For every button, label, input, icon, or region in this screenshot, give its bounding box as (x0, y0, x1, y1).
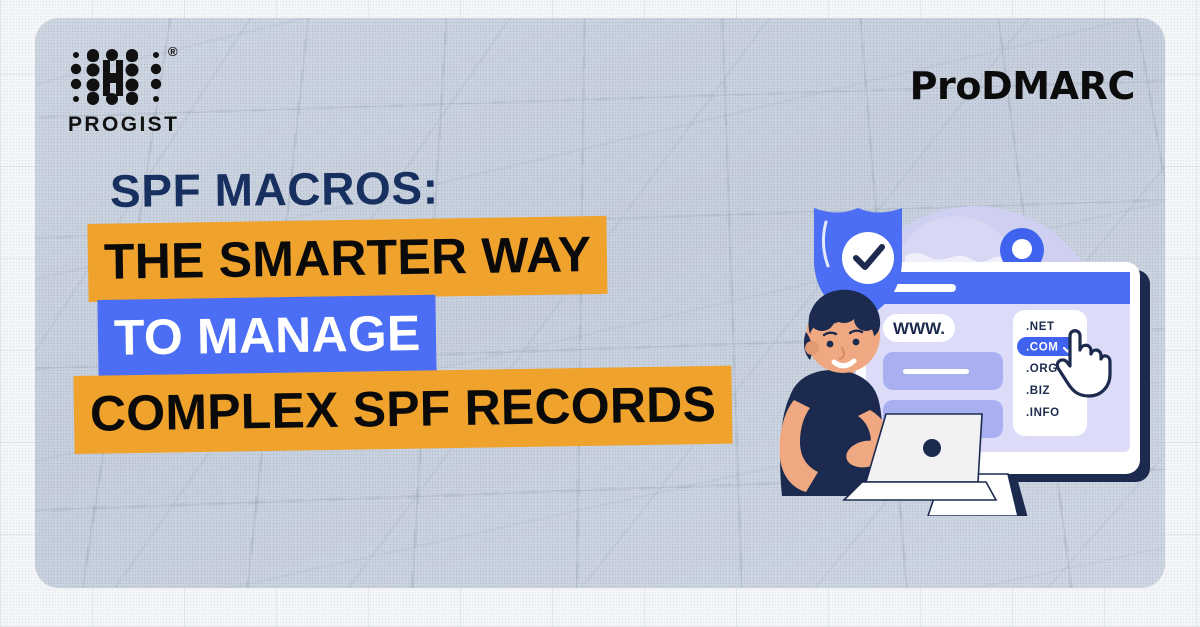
progist-wordmark: PROGIST (68, 113, 191, 137)
product-name: ProDMARC (910, 64, 1135, 108)
poster-canvas: ® PROGIST ProDMARC SPF MACROS: THE SMART… (0, 0, 1200, 627)
headline-block: SPF MACROS: THE SMARTER WAY TO MANAGE CO… (86, 168, 766, 452)
domain-registration-illustration: WWW. .NET .COM .ORG .BIZ .INFO (770, 186, 1170, 516)
domain-option-biz: .BIZ (1026, 385, 1050, 397)
progist-dot-matrix-icon: ® (70, 46, 162, 108)
headline-line-4-wrap: COMPLEX SPF RECORDS (86, 376, 766, 454)
headline-line-2: THE SMARTER WAY (87, 216, 607, 302)
browser-title-bar (866, 272, 1130, 304)
progist-logo[interactable]: ® PROGIST (66, 46, 191, 137)
domain-option-info: .INFO (1026, 407, 1060, 419)
headline-line-4: COMPLEX SPF RECORDS (73, 366, 732, 454)
headline-line-3: TO MANAGE (97, 295, 437, 378)
headline-line-1: SPF MACROS: (110, 161, 766, 214)
domain-option-com: .COM (1026, 342, 1058, 354)
registered-trademark-icon: ® (168, 44, 178, 59)
url-field: WWW. (883, 314, 955, 342)
url-field-value: WWW. (893, 319, 945, 338)
domain-option-org: .ORG (1026, 363, 1058, 375)
headline-line-2-wrap: THE SMARTER WAY (86, 224, 766, 302)
domain-option-net: .NET (1026, 321, 1055, 333)
